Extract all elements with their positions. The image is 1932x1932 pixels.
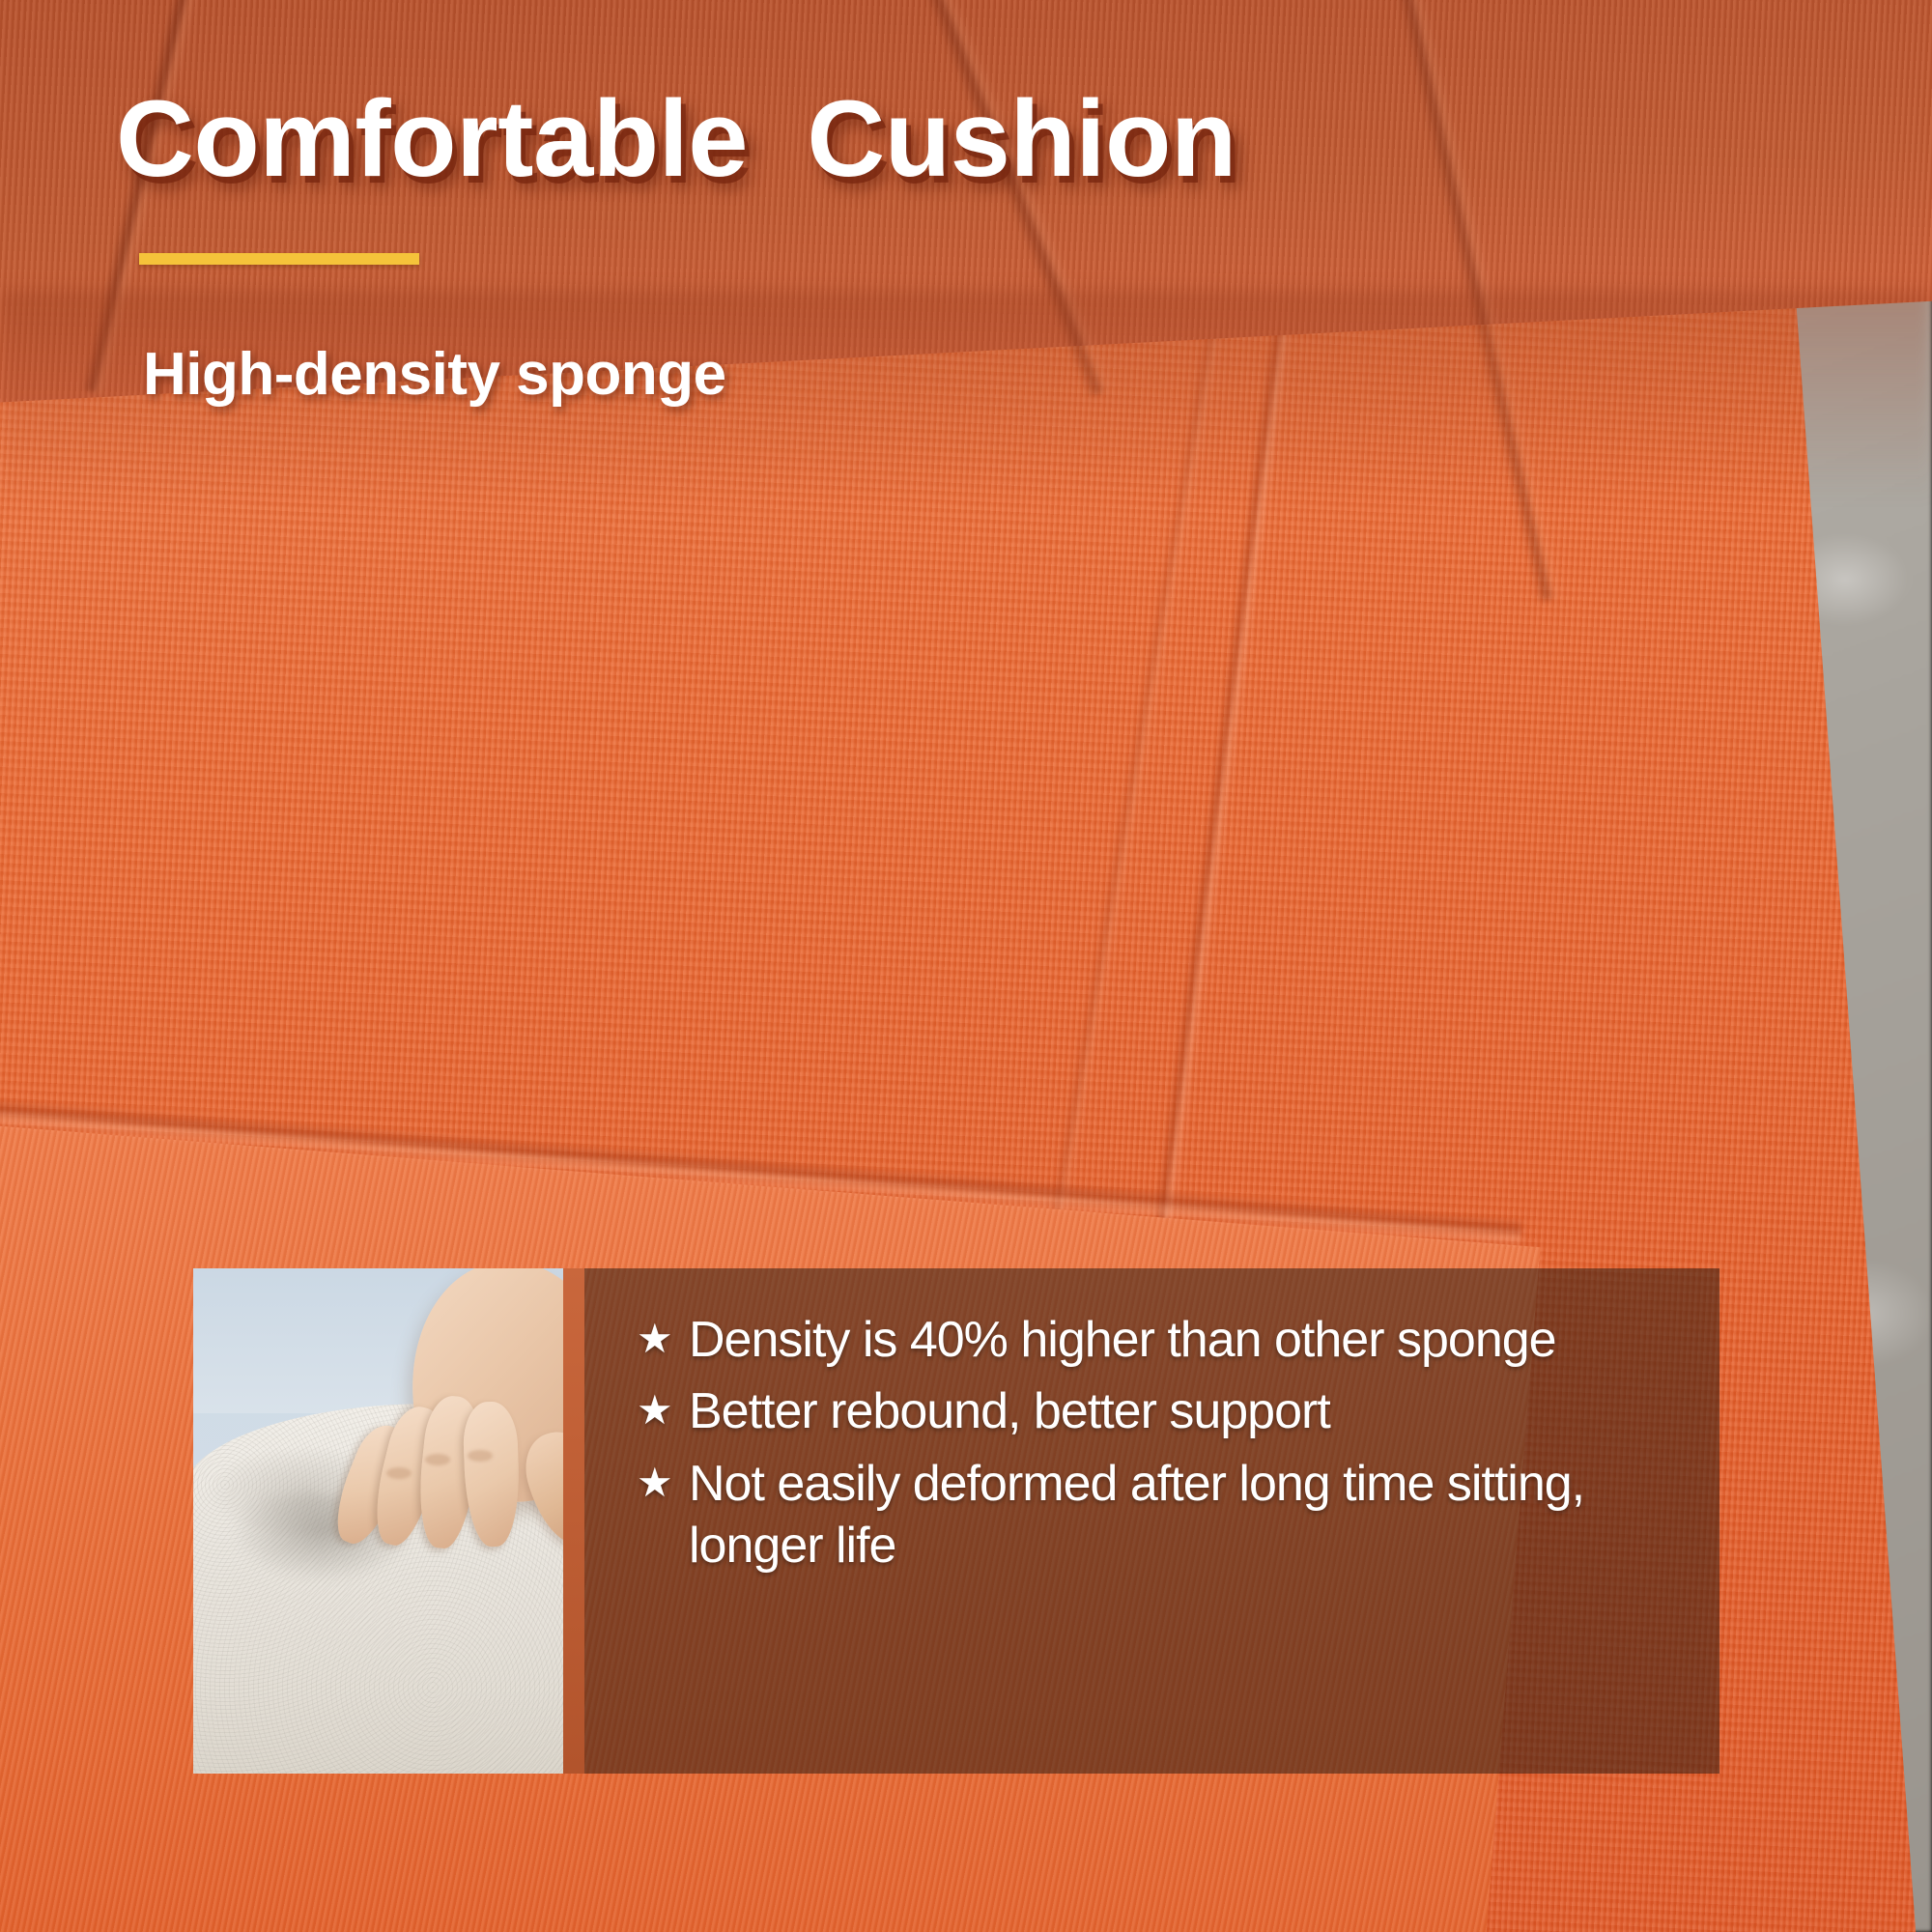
list-item: ★ Better rebound, better support (637, 1380, 1687, 1442)
feature-bullet-list: ★ Density is 40% higher than other spong… (584, 1268, 1719, 1774)
feature-overlay-panel: ★ Density is 40% higher than other spong… (193, 1268, 1719, 1774)
knuckle-1 (386, 1467, 412, 1479)
list-item-label: Density is 40% higher than other sponge (689, 1309, 1687, 1371)
knuckle-2 (425, 1454, 450, 1465)
star-icon: ★ (637, 1309, 689, 1369)
product-feature-banner: Comfortable Cushion High-density sponge (0, 0, 1932, 1932)
list-item: ★ Density is 40% higher than other spong… (637, 1309, 1687, 1371)
knuckle-3 (468, 1450, 493, 1462)
finger-index (462, 1401, 521, 1548)
star-icon: ★ (637, 1453, 689, 1513)
hand-graphic (327, 1268, 584, 1589)
page-title: Comfortable Cushion (116, 85, 1236, 193)
accent-divider (139, 253, 419, 265)
list-item-label: Not easily deformed after long time sitt… (689, 1453, 1687, 1577)
page-subtitle: High-density sponge (143, 340, 726, 409)
list-item: ★ Not easily deformed after long time si… (637, 1453, 1687, 1577)
star-icon: ★ (637, 1380, 689, 1440)
hand-pressing-foam-photo (193, 1268, 584, 1774)
list-item-label: Better rebound, better support (689, 1380, 1687, 1442)
photo-right-edge-sliver (563, 1268, 584, 1774)
